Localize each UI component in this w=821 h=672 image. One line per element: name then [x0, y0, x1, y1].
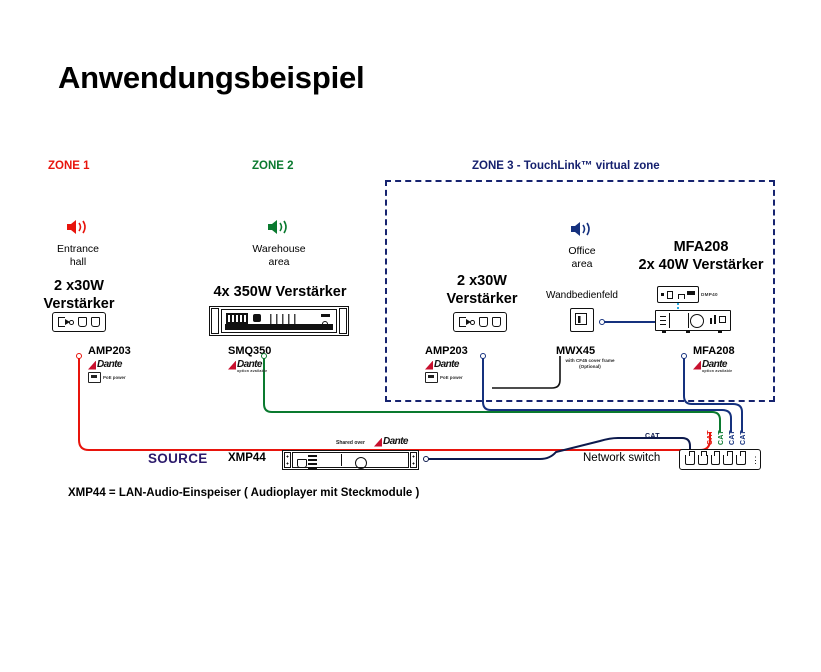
zone-3-room-name: Office area	[542, 245, 622, 271]
module-slot-icon	[308, 455, 317, 469]
dante-mark-icon	[693, 361, 701, 370]
zone-1-amp-title: 2 x30W Verstärker	[22, 277, 136, 313]
mwx45-wall-panel-device[interactable]	[570, 308, 594, 332]
rj45-port-icon	[78, 317, 87, 327]
switch-port-1[interactable]	[685, 455, 695, 465]
rack-faceplate	[221, 309, 337, 333]
zone-2-amp-title: 4x 350W Verstärker	[198, 283, 362, 301]
rack-ear-left	[211, 308, 219, 334]
mwx45-device-name: MWX45	[556, 345, 595, 357]
cat-label-zone2: CAT	[718, 430, 725, 445]
zone-1-room-name: Entrance hall	[38, 243, 118, 269]
zone-1-label: ZONE 1	[48, 160, 90, 172]
dante-wordmark: Dante	[434, 360, 459, 370]
cat-label-zone3: CAT	[729, 430, 736, 445]
volume-knob-icon[interactable]	[690, 314, 704, 328]
knob-icon	[678, 294, 685, 299]
zone-1-amp203-device[interactable]	[52, 312, 106, 332]
dmp40-label: DMP40	[701, 292, 718, 297]
dante-wordmark: Dante	[97, 360, 122, 370]
button-icon	[687, 291, 695, 295]
switch-port-3[interactable]	[711, 455, 721, 465]
led-row-icon	[270, 314, 296, 324]
zone-3-amp-dante-logo: Dante PoE power	[425, 360, 481, 383]
zone-3-speaker-icon	[569, 220, 595, 243]
front-bar	[225, 324, 333, 330]
vent-grille-icon	[226, 313, 248, 324]
device-foot	[686, 330, 690, 333]
rj45-port-icon	[479, 317, 488, 327]
switch-port-4[interactable]	[723, 455, 733, 465]
zone-1-device-name: AMP203	[88, 345, 131, 357]
rj45-port-icon	[91, 317, 100, 327]
dante-mark-icon	[374, 438, 382, 447]
zone-1-poe-label: PoE power	[103, 375, 126, 380]
dmp40-remote-device[interactable]	[657, 286, 699, 303]
shared-over-label: Shared over	[336, 440, 365, 446]
zone-3-poe-label: PoE power	[440, 375, 463, 380]
faceplate-section	[672, 313, 689, 328]
zone-3-label: ZONE 3 - TouchLink™ virtual zone	[472, 160, 660, 172]
mfa208-device[interactable]	[655, 310, 731, 331]
zone-3-amp-title: 2 x30W Verstärker	[425, 272, 539, 308]
zone-2-dante-sub: option available	[237, 369, 284, 373]
zone-3-amp203-device[interactable]	[453, 312, 507, 332]
port-icon	[719, 316, 726, 323]
mfa208-device-name: MFA208	[693, 345, 735, 357]
zone-2-label: ZONE 2	[252, 160, 294, 172]
rack-ear-right	[410, 452, 417, 468]
mwx45-note: with CF45 cover frame (Optional)	[540, 358, 640, 370]
zone-3-amp-cable-port[interactable]	[480, 353, 486, 359]
switch-port-5[interactable]	[736, 455, 746, 465]
mwx45-cable-port[interactable]	[599, 319, 605, 325]
mfa208-dante-sub: option available	[702, 369, 749, 373]
xmp44-label: XMP44	[228, 452, 266, 464]
dante-mark-icon	[88, 361, 96, 370]
diagram-canvas: Anwendungsbeispiel ZONE 1 ZONE 2 ZONE 3 …	[0, 0, 821, 672]
network-switch-device[interactable]: ⋮	[679, 449, 761, 470]
dante-mark-icon	[425, 361, 433, 370]
indicator-icon	[710, 318, 712, 324]
dante-wordmark: Dante	[383, 437, 408, 447]
rack-ear-left	[284, 452, 291, 468]
zone-1-speaker-icon	[65, 218, 91, 241]
network-switch-label: Network switch	[583, 452, 660, 464]
faceplate-section	[319, 454, 342, 466]
poe-icon	[425, 372, 438, 383]
mfa208-cable-port[interactable]	[681, 353, 687, 359]
display-icon	[667, 291, 673, 299]
power-button-icon[interactable]	[321, 314, 330, 317]
rj45-port-icon	[492, 317, 501, 327]
device-foot	[718, 330, 722, 333]
cat-label-mfa: CAT	[740, 430, 747, 445]
mfa208-amp-title: MFA208 2x 40W Verstärker	[626, 238, 776, 274]
cat-label-zone1: CAT	[707, 430, 714, 445]
rj45-port-icon	[297, 459, 307, 468]
page-title: Anwendungsbeispiel	[58, 60, 364, 96]
xmp44-cable-port[interactable]	[423, 456, 429, 462]
zone-2-speaker-icon	[266, 218, 292, 241]
switch-status-dots: ⋮	[751, 457, 760, 463]
source-label: SOURCE	[148, 451, 208, 466]
knob-icon	[253, 314, 261, 322]
xmp44-device[interactable]	[282, 450, 419, 470]
dante-mark-icon	[228, 361, 236, 370]
zone-3-amp-device-name: AMP203	[425, 345, 468, 357]
connector-block-icon	[658, 313, 670, 328]
rack-ear-right	[339, 308, 347, 334]
xmp44-dante-logo: Dante	[374, 437, 408, 447]
wallpanel-caption: Wandbedienfeld	[532, 289, 632, 302]
led-icon	[661, 293, 664, 296]
mfa208-dante-logo: Dante option available	[693, 360, 749, 373]
rack-faceplate	[292, 452, 409, 468]
zone-2-dante-logo: Dante option available	[228, 360, 284, 373]
terminal-icon	[58, 317, 65, 327]
terminal-icon	[459, 317, 466, 327]
indicator-icon	[714, 315, 716, 324]
poe-icon	[88, 372, 101, 383]
volume-knob-icon[interactable]	[355, 457, 367, 469]
zone-1-cable-port[interactable]	[76, 353, 82, 359]
zone-1-dante-logo: Dante PoE power	[88, 360, 144, 383]
cat-label-xmp: CAT	[645, 433, 660, 440]
zone-2-room-name: Warehouse area	[239, 243, 319, 269]
device-foot	[662, 330, 666, 333]
zone-2-smq350-device[interactable]	[209, 306, 349, 336]
switch-port-2[interactable]	[698, 455, 708, 465]
footer-caption: XMP44 = LAN-Audio-Einspeiser ( Audioplay…	[68, 487, 419, 499]
